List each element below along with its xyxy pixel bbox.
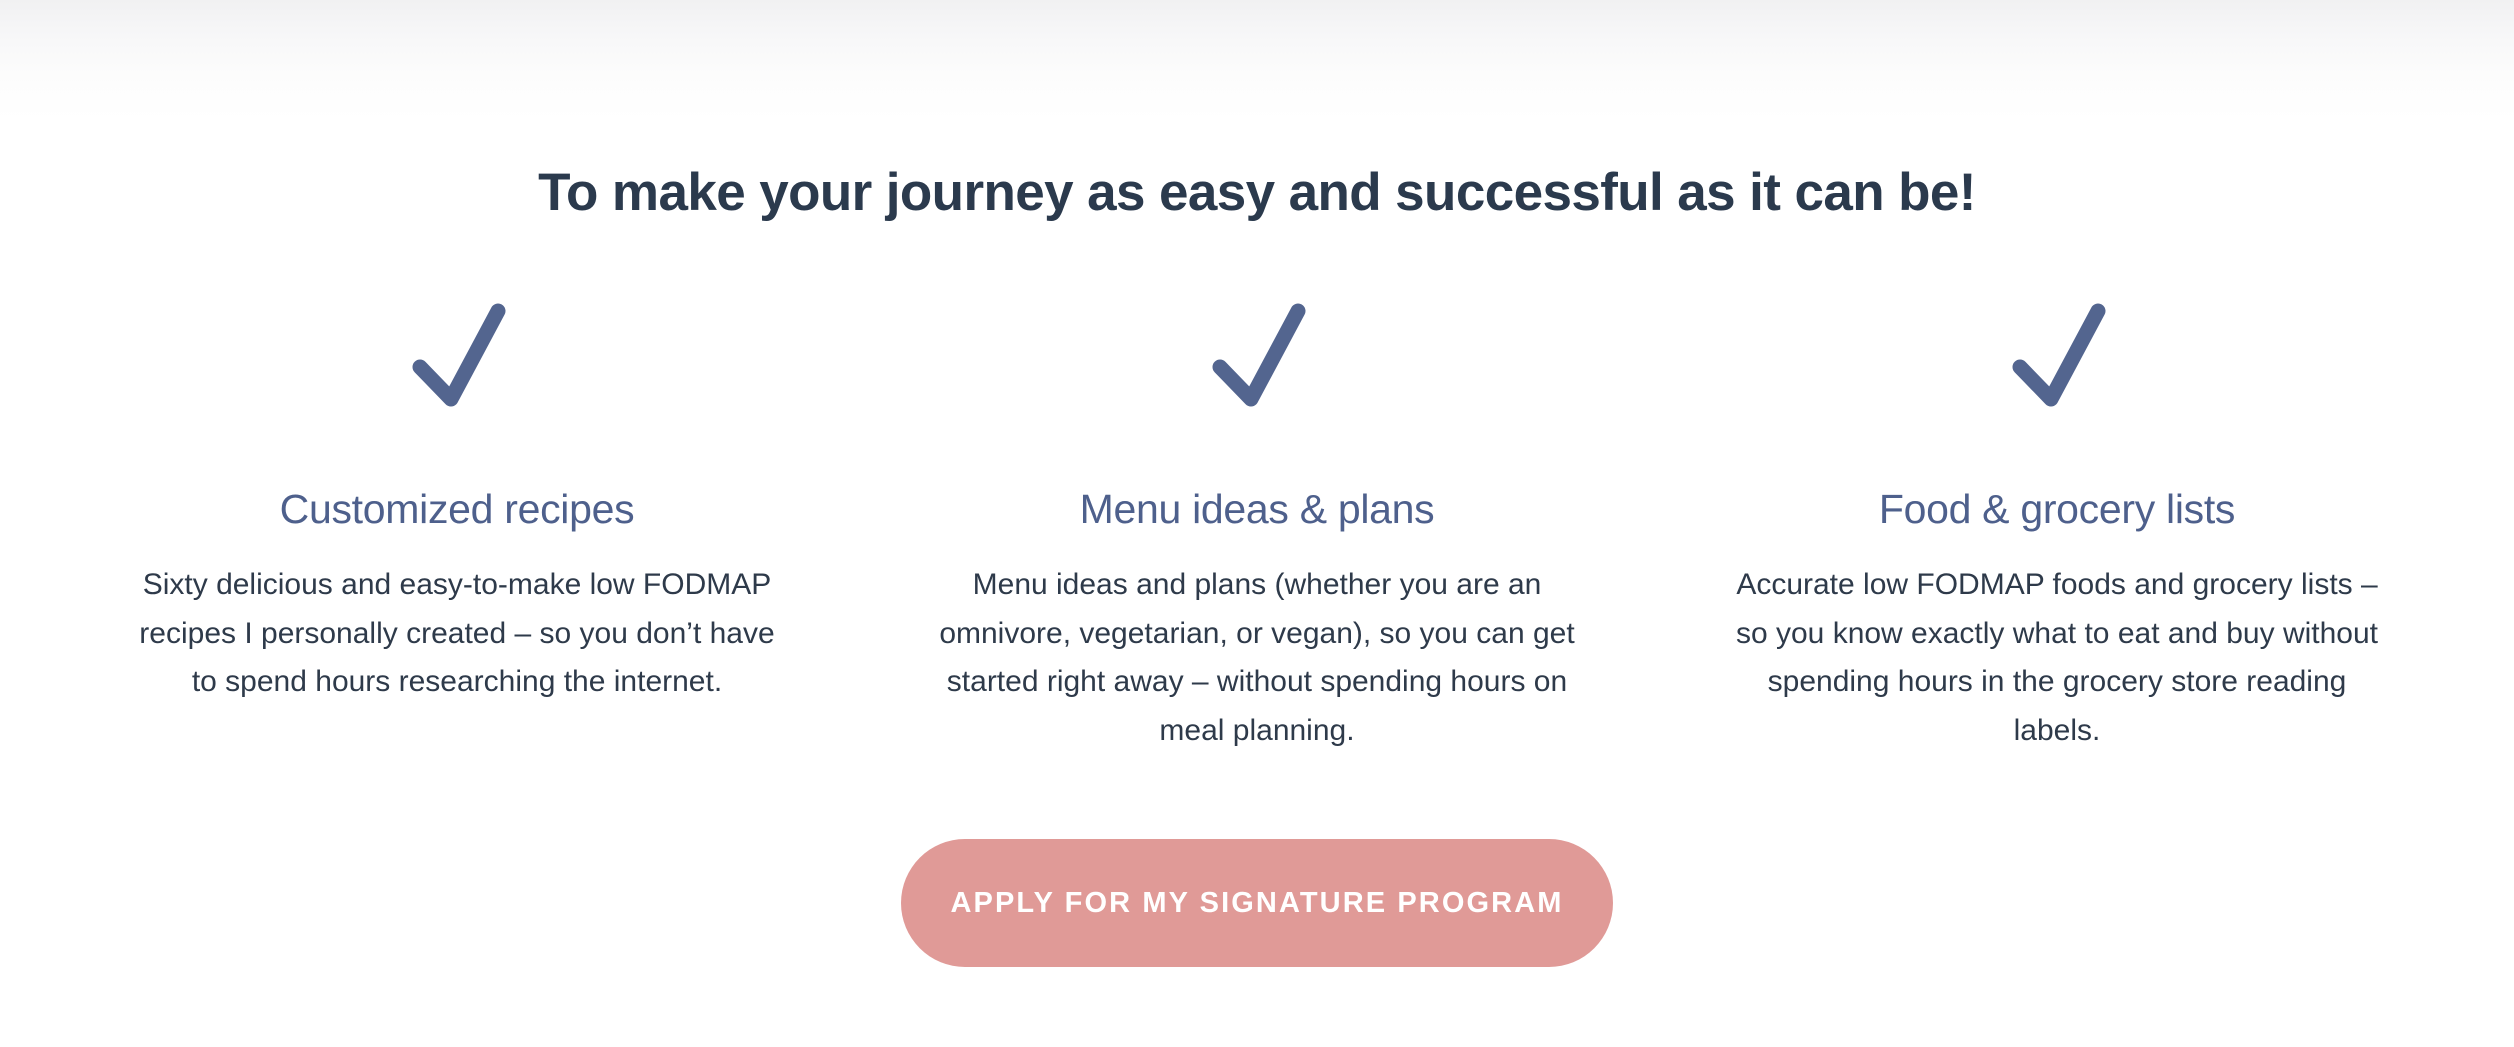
- bonus-columns: Customized recipes Sixty delicious and e…: [57, 295, 2457, 755]
- bonus-column-body: Menu ideas and plans (whether you are an…: [927, 561, 1587, 755]
- bonus-column: Customized recipes Sixty delicious and e…: [57, 295, 857, 755]
- bonus-column-body: Sixty delicious and easy-to-make low FOD…: [127, 561, 787, 707]
- apply-for-signature-program-button[interactable]: APPLY FOR MY SIGNATURE PROGRAM: [901, 839, 1613, 967]
- bonus-column-body: Accurate low FODMAP foods and grocery li…: [1727, 561, 2387, 755]
- section-script-title: Special Bonuses: [807, 6, 1707, 110]
- cta-container: APPLY FOR MY SIGNATURE PROGRAM: [0, 839, 2514, 967]
- checkmark-icon: [1998, 295, 2116, 413]
- script-title-text: Special Bonuses: [780, 0, 1734, 110]
- bonus-column: Menu ideas & plans Menu ideas and plans …: [857, 295, 1657, 755]
- bonus-column: Food & grocery lists Accurate low FODMAP…: [1657, 295, 2457, 755]
- bonus-column-heading: Customized recipes: [280, 486, 635, 533]
- checkmark-icon: [1198, 295, 1316, 413]
- bonus-column-heading: Food & grocery lists: [1879, 486, 2235, 533]
- bonus-column-heading: Menu ideas & plans: [1080, 486, 1435, 533]
- special-bonuses-section: Special Bonuses To make your journey as …: [0, 0, 2514, 1047]
- section-subtitle: To make your journey as easy and success…: [538, 162, 1976, 223]
- checkmark-icon: [398, 295, 516, 413]
